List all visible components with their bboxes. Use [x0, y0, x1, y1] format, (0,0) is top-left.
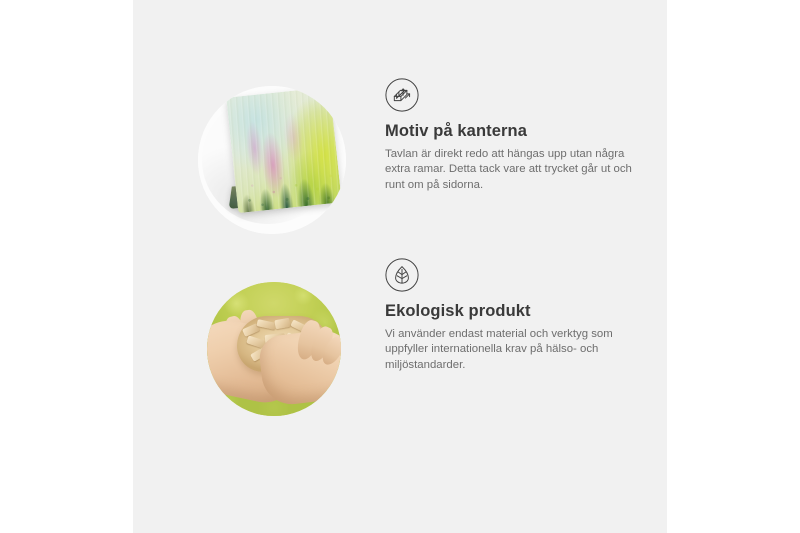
eco-photo-backdrop	[207, 282, 341, 416]
wood-chip	[274, 318, 290, 329]
feature-block-eco-product: Ekologisk produkt Vi använder endast mat…	[133, 258, 667, 438]
leaf-icon	[385, 258, 419, 292]
canvas-wrapped-edge-icon	[385, 78, 419, 112]
feature-body: Tavlan är direkt redo att hängas upp uta…	[385, 147, 637, 193]
hands-holding-wood-chips-photo	[207, 282, 341, 416]
feature-body: Vi använder endast material och verktyg …	[385, 327, 637, 373]
canvas-print-corner-photo	[198, 86, 346, 234]
feature-heading: Motiv på kanterna	[385, 122, 667, 142]
content-panel: Motiv på kanterna Tavlan är direkt redo …	[133, 0, 667, 533]
feature-block-canvas-edges: Motiv på kanterna Tavlan är direkt redo …	[133, 78, 667, 258]
feature-copy-canvas-edges: Motiv på kanterna Tavlan är direkt redo …	[385, 78, 667, 193]
canvas-print-face	[226, 87, 342, 213]
canvas-photo-backdrop	[198, 86, 346, 234]
product-feature-graphic: Motiv på kanterna Tavlan är direkt redo …	[0, 0, 800, 533]
feature-heading: Ekologisk produkt	[385, 302, 667, 322]
feature-copy-eco-product: Ekologisk produkt Vi använder endast mat…	[385, 258, 667, 373]
